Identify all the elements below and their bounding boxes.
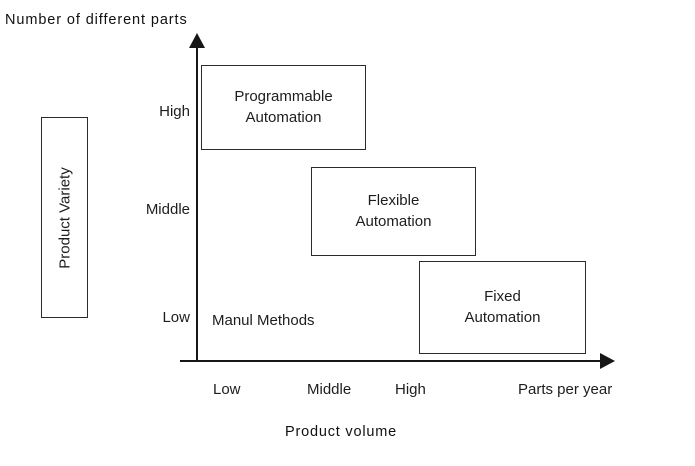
x-tick-middle: Middle <box>307 381 351 398</box>
y-axis-arrowhead-icon <box>189 33 205 48</box>
region-fixed-automation[interactable]: Fixed Automation <box>419 261 586 354</box>
region-programmable-automation-text: Programmable Automation <box>234 87 332 128</box>
product-variety-caption-box: Product Variety <box>41 117 88 318</box>
manual-methods-note: Manul Methods <box>212 312 315 329</box>
y-tick-high-label: High <box>159 103 190 120</box>
y-axis-line <box>196 44 198 362</box>
region-programmable-automation-line1: Programmable <box>234 88 332 105</box>
region-programmable-automation-line2: Automation <box>246 109 322 126</box>
x-axis-title: Product volume <box>285 423 397 441</box>
region-flexible-automation-line2: Automation <box>356 213 432 230</box>
region-flexible-automation-line1: Flexible <box>368 192 420 209</box>
x-tick-low: Low <box>213 381 241 398</box>
y-tick-low-label: Low <box>162 309 190 326</box>
y-axis-title: Number of different parts <box>5 11 188 29</box>
diagram-canvas: Number of different parts Product Variet… <box>0 0 695 466</box>
x-axis-arrowhead-icon <box>600 353 615 369</box>
region-fixed-automation-text: Fixed Automation <box>465 287 541 328</box>
x-axis-unit-label: Parts per year <box>518 381 612 398</box>
region-fixed-automation-line1: Fixed <box>484 288 521 305</box>
region-flexible-automation-text: Flexible Automation <box>356 191 432 232</box>
x-tick-high: High <box>395 381 426 398</box>
x-axis-line <box>180 360 604 362</box>
region-programmable-automation[interactable]: Programmable Automation <box>201 65 366 150</box>
product-variety-label: Product Variety <box>56 167 73 268</box>
region-flexible-automation[interactable]: Flexible Automation <box>311 167 476 256</box>
region-fixed-automation-line2: Automation <box>465 309 541 326</box>
y-tick-middle-label: Middle <box>146 201 190 218</box>
